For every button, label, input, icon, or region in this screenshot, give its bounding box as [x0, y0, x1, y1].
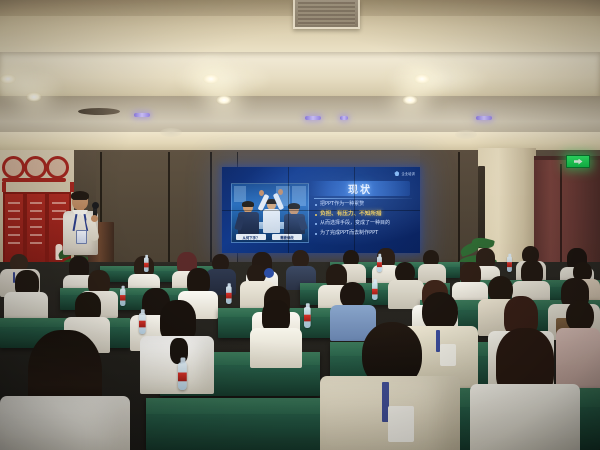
presenter-glasses: [73, 199, 87, 203]
light-spill: [390, 62, 486, 96]
water-bottle: [377, 257, 382, 272]
attendee-foreground: [470, 328, 580, 450]
ceiling: [0, 0, 600, 152]
culture-wall-emblem: [46, 156, 69, 179]
ceiling-vent-slot: [78, 108, 120, 115]
conference-room-photo: 从何下手？ 需要修改 现状 把PPT作为一种累赘 负担、有压力、不知所: [0, 0, 600, 450]
water-bottle: [226, 286, 232, 304]
ceiling-led-strip: [134, 113, 150, 117]
ceiling-downlight: [26, 92, 42, 102]
presenter-hand: [91, 215, 98, 222]
attendee: [140, 300, 214, 392]
ceiling-downlight: [216, 95, 232, 105]
ceiling-led-strip: [305, 116, 321, 120]
ceiling-soffit: [0, 52, 600, 98]
ceiling-downlight: [402, 95, 418, 105]
ceiling-led-strip: [340, 116, 348, 120]
attendee: [4, 270, 48, 318]
attendee: [250, 300, 302, 364]
ceiling-speaker: [455, 130, 477, 139]
screen-glow: [222, 167, 420, 253]
running-man-icon: [574, 159, 583, 165]
attendee-foreground: [0, 330, 130, 450]
ceiling-downlight: [0, 74, 16, 84]
ceiling-speaker: [160, 128, 182, 137]
ceiling-downlight: [203, 74, 219, 84]
microphone-head-icon: [92, 202, 99, 209]
presenter-badge: [76, 230, 87, 244]
water-bottle: [120, 289, 125, 306]
water-bottle: [144, 257, 149, 272]
water-bottle: [178, 363, 187, 391]
culture-wall-emblem: [2, 156, 25, 179]
wall-seam: [168, 152, 170, 280]
air-vent: [293, 0, 360, 29]
attendee-foreground: [320, 322, 460, 450]
ceiling-led-strip: [476, 116, 492, 120]
culture-wall-bracket: [2, 182, 74, 192]
presenter: [58, 192, 104, 264]
water-bottle: [304, 307, 311, 328]
table-row: [146, 398, 346, 450]
ceiling-downlight: [414, 74, 430, 84]
exit-sign: [566, 155, 590, 168]
attendee: [286, 250, 316, 286]
light-spill: [178, 62, 268, 96]
projection-screen[interactable]: 从何下手？ 需要修改 现状 把PPT作为一种累赘 负担、有压力、不知所: [222, 167, 420, 253]
culture-wall-emblem: [24, 156, 47, 179]
presentation-slide: 从何下手？ 需要修改 现状 把PPT作为一种累赘 负担、有压力、不知所: [222, 167, 420, 253]
